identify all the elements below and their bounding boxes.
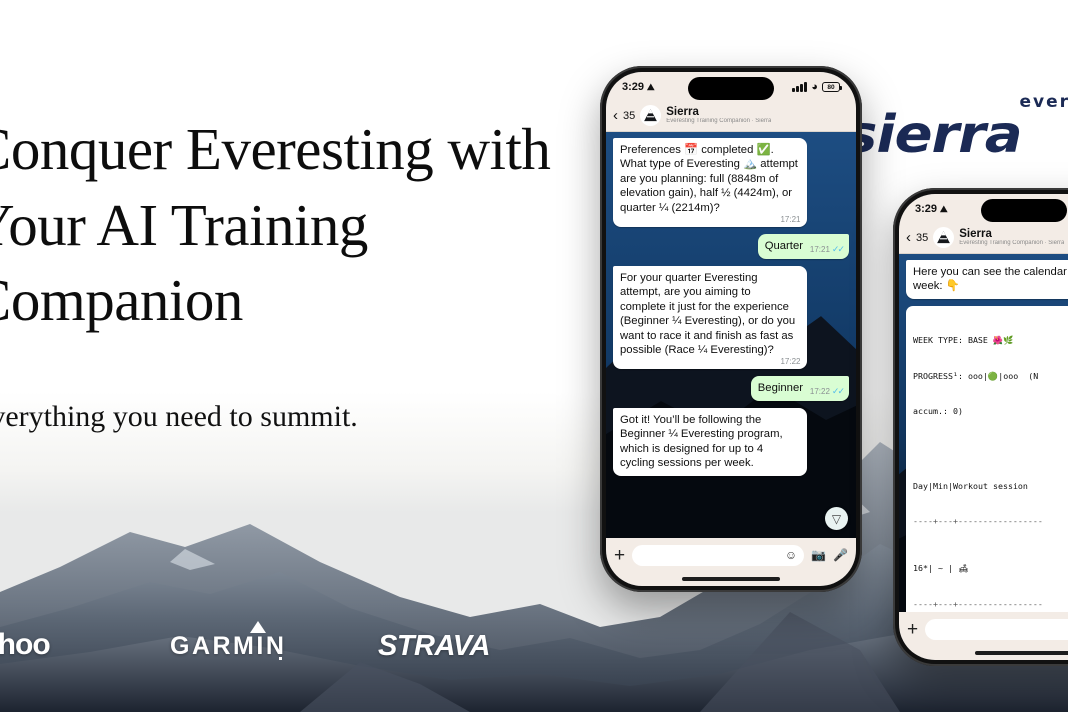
dynamic-island <box>981 199 1067 222</box>
phone1-message-list: Preferences 📅 completed ✅. What type of … <box>606 132 856 476</box>
phone1-chat-body[interactable]: Preferences 📅 completed ✅. What type of … <box>606 132 856 538</box>
cell-day: 16* <box>913 563 928 573</box>
brand-ever-text: ever <box>1019 92 1068 112</box>
read-receipt-icon: ✓✓ <box>832 386 843 398</box>
progress-line: PROGRESS¹: ooo|🟢|ooo (N <box>913 371 1068 383</box>
phone2-input-bar: + ☺ <box>899 612 1068 646</box>
scroll-to-bottom-button[interactable]: ▽ <box>825 507 848 530</box>
hero-subheadline: Everything you need to summit. <box>0 398 592 436</box>
camera-icon[interactable]: 📷 <box>811 548 826 562</box>
phone-mockup-right: 3:29 ⛰ ‹ 35 <box>893 188 1068 666</box>
unread-count-badge: 35 <box>916 232 928 244</box>
avatar[interactable] <box>640 105 661 126</box>
plan-table: Day|Min|Workout session ----+---+-------… <box>913 457 1068 612</box>
accumulated-line: accum.: 0) <box>913 406 1068 418</box>
phone1-home-indicator <box>606 572 856 586</box>
hero-headline: Conquer Everesting with Your AI Training… <box>0 112 592 339</box>
phone1-status-time: 3:29 <box>622 81 644 93</box>
partner-logos: ahoo GARMIN STRAVA <box>0 618 600 670</box>
phone2-chat-body[interactable]: Here you can see the calendar this first… <box>899 254 1068 612</box>
garmin-dot-icon <box>279 657 282 660</box>
message-timestamp: 17:22 ✓✓ <box>810 386 843 398</box>
phone1-input-bar: + ☺ 📷 🎤 <box>606 538 856 572</box>
contact-name: Sierra <box>666 106 771 118</box>
battery-level: 80 <box>827 84 834 91</box>
plan-table-header: Day|Min|Workout session <box>913 481 1068 493</box>
table-separator: ----+---+----------------- <box>913 516 1068 528</box>
sticker-icon[interactable]: ☺ <box>785 548 797 562</box>
col-session: Workout session <box>953 481 1028 491</box>
message-bubble-incoming: Preferences 📅 completed ✅. What type of … <box>613 138 807 227</box>
message-text: Here you can see the calendar this first… <box>913 266 1068 292</box>
message-input[interactable]: ☺ <box>925 619 1068 640</box>
phone2-message-list: Here you can see the calendar this first… <box>899 254 1068 612</box>
table-row: 16*| ~ | 🛋 <box>913 563 1068 575</box>
week-type-line: WEEK TYPE: BASE 🌺🌿 <box>913 335 1068 347</box>
back-chevron-icon[interactable]: ‹ <box>906 230 911 245</box>
page-root: Conquer Everesting with Your AI Training… <box>0 0 1068 712</box>
training-plan-card: WEEK TYPE: BASE 🌺🌿 PROGRESS¹: ooo|🟢|ooo … <box>906 306 1068 612</box>
dynamic-island <box>688 77 774 100</box>
phone1-header-text: Sierra Everesting Training Companion · S… <box>666 106 771 125</box>
garmin-triangle-icon <box>250 621 266 633</box>
phone1-status-bar: 3:29 ⛰ ◕ 80 <box>606 72 856 102</box>
phone2-chat-header[interactable]: ‹ 35 Sierra Everesting Training Companio… <box>899 224 1068 254</box>
timestamp-text: 17:22 <box>810 387 830 397</box>
phone1-chat-header[interactable]: ‹ 35 Sierra Everesting Training Companio… <box>606 102 856 132</box>
phone2-screen: 3:29 ⛰ ‹ 35 <box>899 194 1068 660</box>
phone2-status-time-group: 3:29 ⛰ <box>915 203 948 215</box>
phone2-status-bar: 3:29 ⛰ <box>899 194 1068 224</box>
wahoo-logo: ahoo <box>0 628 50 662</box>
back-chevron-icon[interactable]: ‹ <box>613 108 618 123</box>
phone1-status-time-group: 3:29 ⛰ <box>622 81 655 93</box>
col-min: Min <box>933 481 948 491</box>
phone1-status-icons: ◕ 80 <box>792 81 840 93</box>
message-timestamp: 17:21 ✓✓ <box>810 244 843 256</box>
contact-name: Sierra <box>959 228 1064 240</box>
message-bubble-incoming: For your quarter Everesting attempt, are… <box>613 266 807 370</box>
brand-sierra-text: sierra <box>844 105 1022 165</box>
col-day: Day <box>913 481 928 491</box>
message-text: Beginner <box>758 382 803 394</box>
garmin-logo-label: GARMIN <box>170 632 286 660</box>
phone2-header-text: Sierra Everesting Training Companion · S… <box>959 228 1064 247</box>
garmin-logo: GARMIN <box>170 632 286 661</box>
cellular-signal-icon <box>792 82 807 92</box>
timestamp-text: 17:22 <box>780 357 800 367</box>
phone2-home-indicator <box>899 646 1068 660</box>
message-bubble-incoming: Got it! You’ll be following the Beginner… <box>613 408 807 476</box>
avatar[interactable] <box>933 227 954 248</box>
battery-icon: 80 <box>822 82 840 92</box>
read-receipt-icon: ✓✓ <box>832 244 843 256</box>
sierra-brand-logo: ever sierra <box>844 92 1068 162</box>
message-text: For your quarter Everesting attempt, are… <box>620 272 795 356</box>
message-timestamp: 17:21 <box>780 215 800 225</box>
strava-logo: STRAVA <box>378 630 490 663</box>
alarm-icon: ⛰ <box>940 204 948 215</box>
phone-mockup-left: 3:29 ⛰ ◕ 80 ‹ 35 <box>600 66 862 592</box>
message-text: Got it! You’ll be following the Beginner… <box>620 414 783 469</box>
attach-plus-icon[interactable]: + <box>907 620 918 639</box>
message-text: Preferences 📅 completed ✅. What type of … <box>620 144 798 214</box>
phone1-screen: 3:29 ⛰ ◕ 80 ‹ 35 <box>606 72 856 586</box>
timestamp-text: 17:21 <box>810 245 830 255</box>
message-bubble-outgoing: Quarter 17:21 ✓✓ <box>758 234 849 258</box>
wifi-icon: ◕ <box>811 81 818 93</box>
microphone-icon[interactable]: 🎤 <box>833 548 848 562</box>
contact-subtitle: Everesting Training Companion · Sierra <box>666 118 771 125</box>
contact-subtitle: Everesting Training Companion · Sierra <box>959 240 1064 247</box>
message-bubble-incoming: Here you can see the calendar this first… <box>906 260 1068 299</box>
alarm-icon: ⛰ <box>647 82 655 93</box>
phone2-status-time: 3:29 <box>915 203 937 215</box>
message-text: Quarter <box>765 240 803 252</box>
unread-count-badge: 35 <box>623 110 635 122</box>
timestamp-text: 17:21 <box>780 215 800 225</box>
cell-session: 🛋 <box>958 563 969 573</box>
table-separator: ----+---+----------------- <box>913 599 1068 611</box>
cell-min: ~ <box>938 563 943 573</box>
attach-plus-icon[interactable]: + <box>614 546 625 565</box>
message-timestamp: 17:22 <box>780 357 800 367</box>
message-bubble-outgoing: Beginner 17:22 ✓✓ <box>751 376 849 400</box>
message-input[interactable]: ☺ <box>632 545 804 566</box>
